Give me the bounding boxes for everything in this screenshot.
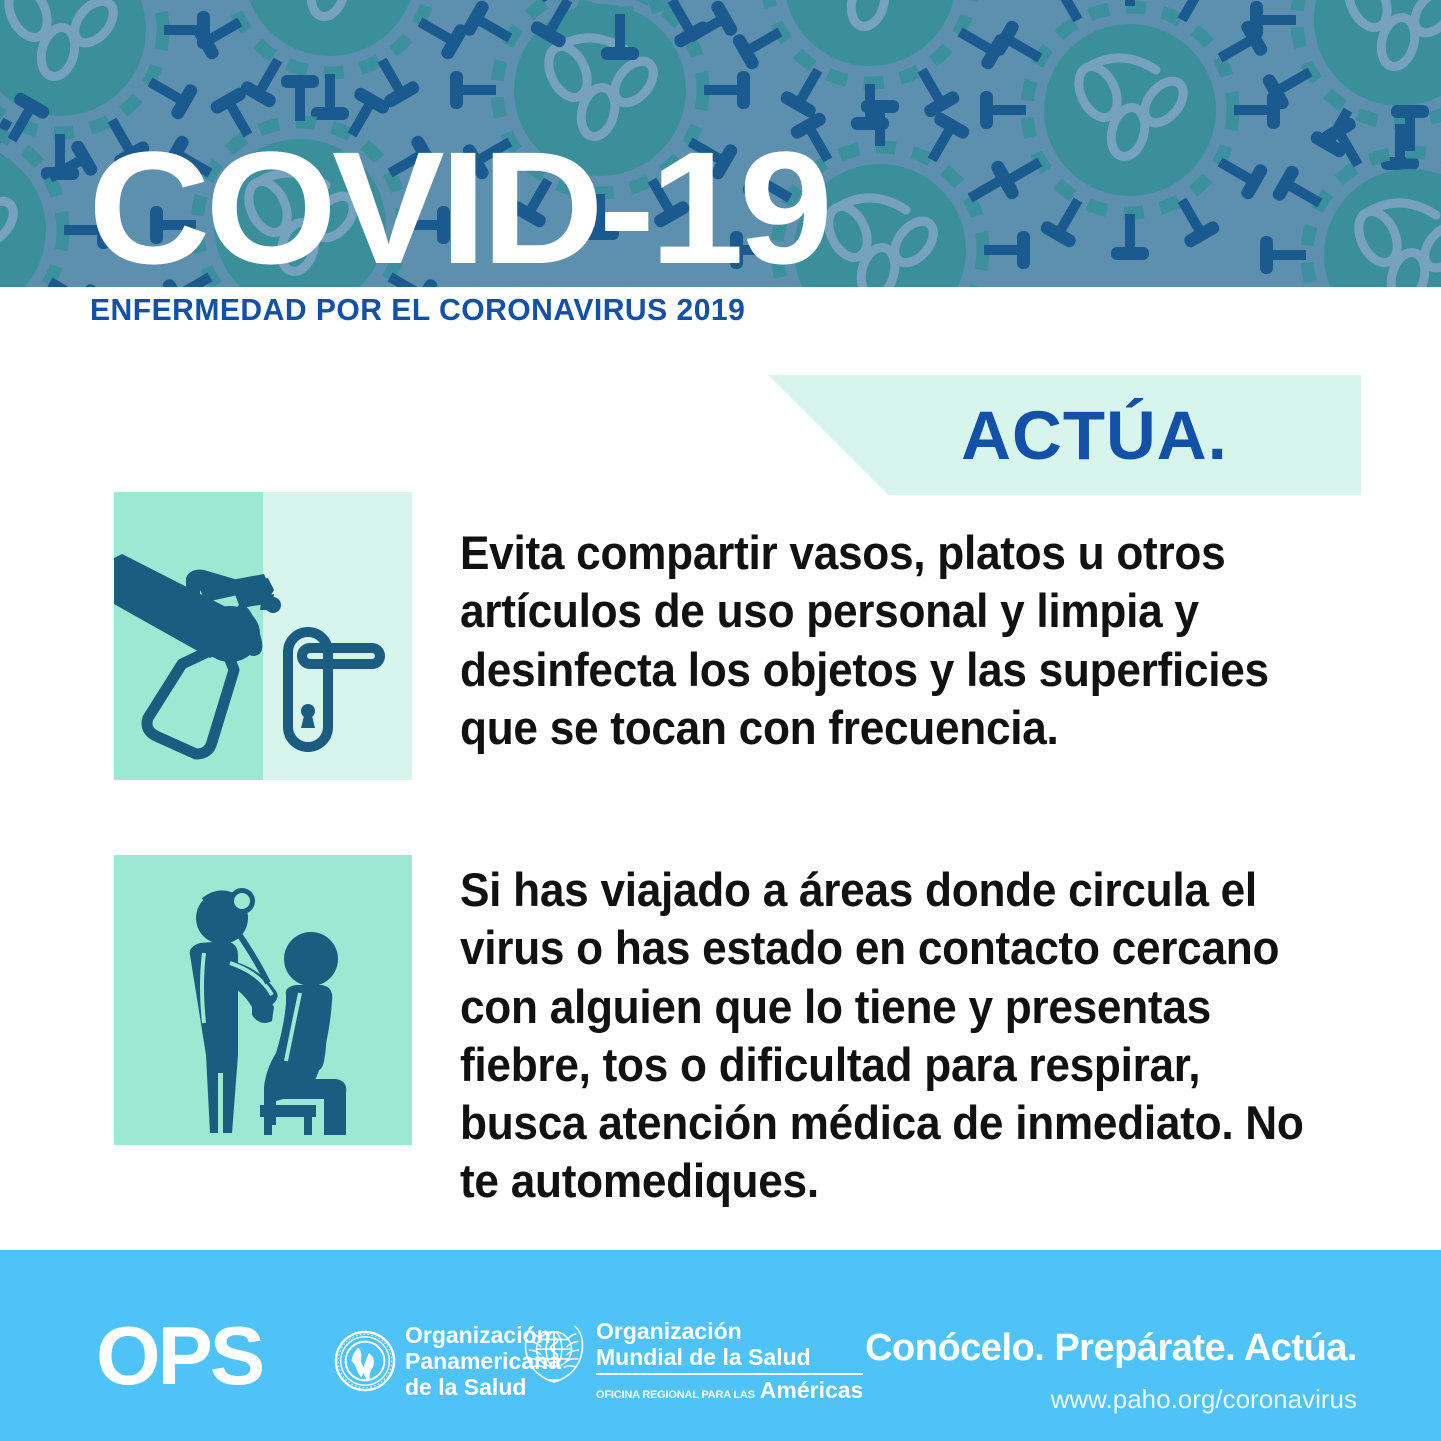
covid19-poster: COVID-19 ENFERMEDAD POR EL CORONAVIRUS 2… bbox=[0, 0, 1441, 1441]
actua-banner-label: ACTÚA. bbox=[768, 375, 1361, 495]
header-banner: COVID-19 bbox=[0, 0, 1441, 287]
footer-tagline: Conócelo. Prepárate. Actúa. bbox=[865, 1327, 1357, 1370]
doctor-patient-artwork bbox=[114, 855, 412, 1145]
paho-seal-icon bbox=[334, 1330, 396, 1392]
who-regional-label: OFICINA REGIONAL PARA LAS bbox=[596, 1389, 755, 1401]
page-title: COVID-19 bbox=[88, 128, 828, 287]
who-logo-lockup: Organización Mundial de la Salud OFICINA… bbox=[520, 1318, 863, 1404]
footer-url[interactable]: www.paho.org/coronavirus bbox=[1051, 1384, 1357, 1415]
who-line-2: Mundial de la Salud bbox=[596, 1344, 863, 1370]
title-block: COVID-19 bbox=[0, 0, 1441, 287]
who-wordmark: Organización Mundial de la Salud OFICINA… bbox=[596, 1318, 863, 1404]
who-regional-row: OFICINA REGIONAL PARA LAS Américas bbox=[596, 1377, 863, 1404]
ops-wordmark: OPS bbox=[96, 1314, 262, 1397]
who-americas-label: Américas bbox=[760, 1377, 864, 1404]
doctor-examining-patient-icon bbox=[114, 855, 412, 1145]
advice-text-2: Si has viajado a áreas donde circula el … bbox=[460, 861, 1325, 1211]
who-divider bbox=[596, 1373, 863, 1375]
advice-text-1: Evita compartir vasos, platos u otros ar… bbox=[460, 524, 1325, 757]
page-subtitle: ENFERMEDAD POR EL CORONAVIRUS 2019 bbox=[90, 292, 745, 328]
spray-and-handle-artwork bbox=[114, 492, 412, 780]
who-line-1: Organización bbox=[596, 1318, 863, 1344]
spray-bottle-door-handle-icon bbox=[114, 492, 412, 780]
who-emblem-icon bbox=[520, 1320, 588, 1388]
